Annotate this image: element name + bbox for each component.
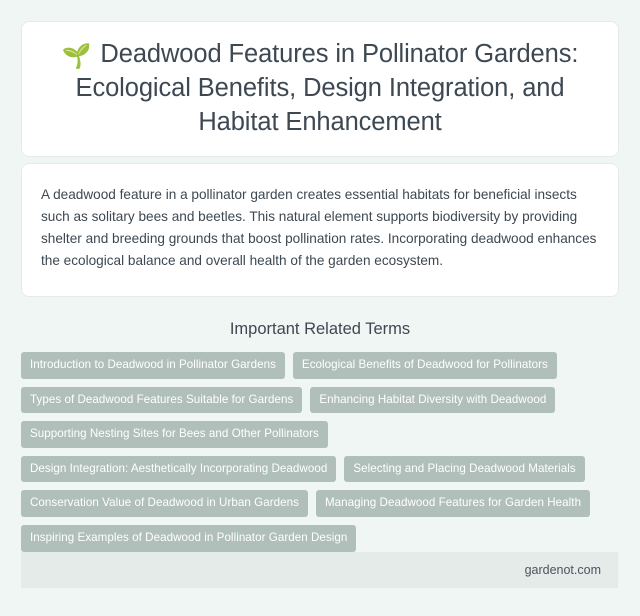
term-tag[interactable]: Types of Deadwood Features Suitable for … — [21, 387, 302, 414]
page-root: 🌱Deadwood Features in Pollinator Gardens… — [0, 0, 640, 616]
term-tag[interactable]: Conservation Value of Deadwood in Urban … — [21, 490, 308, 517]
term-tag[interactable]: Inspiring Examples of Deadwood in Pollin… — [21, 525, 356, 552]
term-tag[interactable]: Managing Deadwood Features for Garden He… — [316, 490, 590, 517]
seedling-icon: 🌱 — [62, 45, 92, 69]
title-card: 🌱Deadwood Features in Pollinator Gardens… — [21, 21, 619, 157]
related-terms-heading: Important Related Terms — [0, 320, 640, 339]
term-tag[interactable]: Introduction to Deadwood in Pollinator G… — [21, 352, 285, 379]
term-tag[interactable]: Supporting Nesting Sites for Bees and Ot… — [21, 421, 328, 448]
term-tag[interactable]: Ecological Benefits of Deadwood for Poll… — [293, 352, 557, 379]
term-tag[interactable]: Design Integration: Aesthetically Incorp… — [21, 456, 336, 483]
footer-site-name: gardenot.com — [525, 563, 601, 577]
description-text: A deadwood feature in a pollinator garde… — [41, 184, 599, 272]
term-tag[interactable]: Selecting and Placing Deadwood Materials — [344, 456, 584, 483]
description-card: A deadwood feature in a pollinator garde… — [21, 163, 619, 297]
footer-bar: gardenot.com — [21, 552, 618, 588]
related-terms-list: Introduction to Deadwood in Pollinator G… — [21, 352, 621, 552]
page-title: 🌱Deadwood Features in Pollinator Gardens… — [48, 38, 592, 140]
page-title-text: Deadwood Features in Pollinator Gardens:… — [76, 40, 579, 136]
term-tag[interactable]: Enhancing Habitat Diversity with Deadwoo… — [310, 387, 555, 414]
